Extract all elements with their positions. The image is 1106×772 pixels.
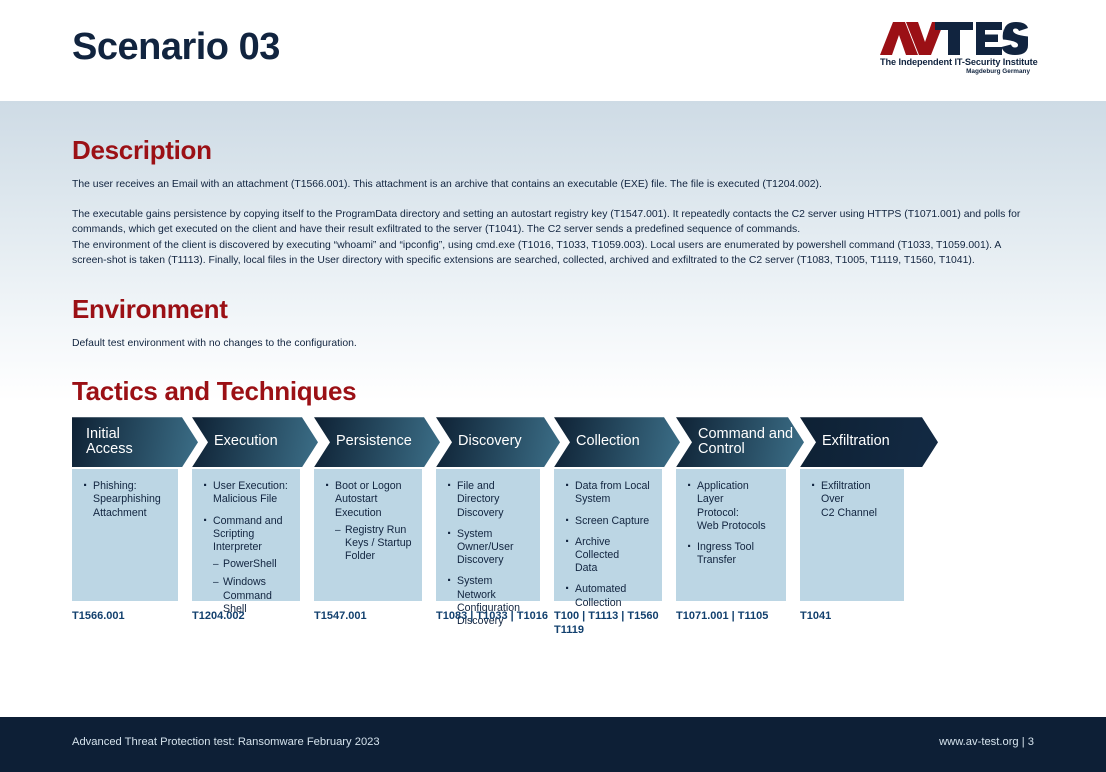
technique-cell-command-and-control: Application LayerProtocol:Web ProtocolsI… <box>676 469 786 601</box>
environment-heading: Environment <box>72 296 1034 322</box>
technique-list: User Execution:Malicious FileCommand and… <box>202 480 291 616</box>
technique-cell-initial-access: Phishing:SpearphishingAttachment <box>72 469 178 601</box>
technique-ids-execution: T1204.002 <box>192 610 314 624</box>
technique-ids-discovery: T1083 | T1033 | T1016 <box>436 610 554 624</box>
tactic-label-initial-access: InitialAccess <box>86 427 133 458</box>
tactic-label-discovery: Discovery <box>450 434 522 450</box>
tactic-label-command-and-control: Command andControl <box>690 427 793 458</box>
technique-list: Phishing:SpearphishingAttachment <box>82 480 169 520</box>
sub-technique-list: Registry RunKeys / StartupFolder <box>335 524 413 564</box>
technique-item: File and DirectoryDiscovery <box>446 480 531 520</box>
page-header: Scenario 03 <box>0 0 1106 101</box>
description-paragraph-3: The environment of the client is discove… <box>72 238 1032 268</box>
technique-ids-exfiltration: T1041 <box>800 610 918 624</box>
technique-list: Application LayerProtocol:Web ProtocolsI… <box>686 480 777 567</box>
tactics-header-row: InitialAccessExecutionPersistenceDiscove… <box>72 417 1034 467</box>
tactic-chevron-persistence[interactable]: Persistence <box>314 417 440 467</box>
technique-item: Exfiltration OverC2 Channel <box>810 480 895 520</box>
technique-item: Application LayerProtocol:Web Protocols <box>686 480 777 533</box>
tactic-chevron-initial-access[interactable]: InitialAccess <box>72 417 198 467</box>
technique-list: File and DirectoryDiscoverySystem Owner/… <box>446 480 531 628</box>
technique-item: Ingress ToolTransfer <box>686 541 777 567</box>
technique-cell-discovery: File and DirectoryDiscoverySystem Owner/… <box>436 469 540 601</box>
technique-ids-command-and-control: T1071.001 | T1105 <box>676 610 800 624</box>
tactic-label-execution: Execution <box>206 434 278 450</box>
tactic-label-exfiltration: Exfiltration <box>814 434 890 450</box>
sub-technique-list: PowerShellWindowsCommand Shell <box>213 558 291 616</box>
av-test-logo: The Independent IT-Security Institute Ma… <box>880 22 1030 78</box>
technique-ids-initial-access: T1566.001 <box>72 610 192 624</box>
description-paragraph-2: The executable gains persistence by copy… <box>72 207 1032 237</box>
technique-item: Screen Capture <box>564 515 653 528</box>
technique-ids-row: T1566.001T1204.002T1547.001T1083 | T1033… <box>72 610 1034 644</box>
technique-item: AutomatedCollection <box>564 583 653 609</box>
technique-cell-exfiltration: Exfiltration OverC2 Channel <box>800 469 904 601</box>
technique-item: System Owner/UserDiscovery <box>446 528 531 568</box>
slide-page: Scenario 03 <box>0 0 1106 772</box>
tactic-label-collection: Collection <box>568 434 640 450</box>
technique-cell-execution: User Execution:Malicious FileCommand and… <box>192 469 300 601</box>
tactic-chevron-exfiltration[interactable]: Exfiltration <box>800 417 938 467</box>
tactic-chevron-discovery[interactable]: Discovery <box>436 417 560 467</box>
technique-item: Command andScripting Interpreter <box>202 515 291 555</box>
tactic-chevron-execution[interactable]: Execution <box>192 417 318 467</box>
page-content: Description The user receives an Email w… <box>0 101 1106 717</box>
technique-list: Boot or LogonAutostart ExecutionRegistry… <box>324 480 413 563</box>
technique-list: Exfiltration OverC2 Channel <box>810 480 895 520</box>
techniques-row: Phishing:SpearphishingAttachmentUser Exe… <box>72 469 1034 601</box>
tactic-label-persistence: Persistence <box>328 434 412 450</box>
technique-item: Archive CollectedData <box>564 536 653 576</box>
tactics-heading: Tactics and Techniques <box>72 378 1034 404</box>
page-footer: Advanced Threat Protection test: Ransomw… <box>0 717 1106 772</box>
technique-list: Data from LocalSystemScreen CaptureArchi… <box>564 480 653 610</box>
content-inner: Description The user receives an Email w… <box>72 101 1034 644</box>
tactic-chevron-command-and-control[interactable]: Command andControl <box>676 417 804 467</box>
technique-cell-persistence: Boot or LogonAutostart ExecutionRegistry… <box>314 469 422 601</box>
technique-ids-persistence: T1547.001 <box>314 610 436 624</box>
logo-av-test-glyph <box>880 22 1030 56</box>
environment-paragraph-1: Default test environment with no changes… <box>72 336 1032 351</box>
footer-test-name: Advanced Threat Protection test: Ransomw… <box>72 736 380 748</box>
technique-item: Boot or LogonAutostart Execution <box>324 480 413 520</box>
technique-ids-collection: T100 | T1113 | T1560T1119 <box>554 610 676 637</box>
page-title: Scenario 03 <box>72 26 280 69</box>
technique-cell-collection: Data from LocalSystemScreen CaptureArchi… <box>554 469 662 601</box>
sub-technique-item: PowerShell <box>213 558 291 571</box>
description-paragraph-1: The user receives an Email with an attac… <box>72 177 1032 192</box>
logo-tagline: The Independent IT-Security Institute <box>880 57 1030 67</box>
sub-technique-item: Registry RunKeys / StartupFolder <box>335 524 413 564</box>
tactic-chevron-collection[interactable]: Collection <box>554 417 680 467</box>
technique-item: Data from LocalSystem <box>564 480 653 506</box>
technique-item: User Execution:Malicious File <box>202 480 291 506</box>
footer-url-page: www.av-test.org | 3 <box>939 736 1034 748</box>
description-heading: Description <box>72 137 1034 163</box>
logo-wordmark <box>880 22 1030 56</box>
logo-location: Magdeburg Germany <box>880 68 1030 75</box>
technique-item: Phishing:SpearphishingAttachment <box>82 480 169 520</box>
